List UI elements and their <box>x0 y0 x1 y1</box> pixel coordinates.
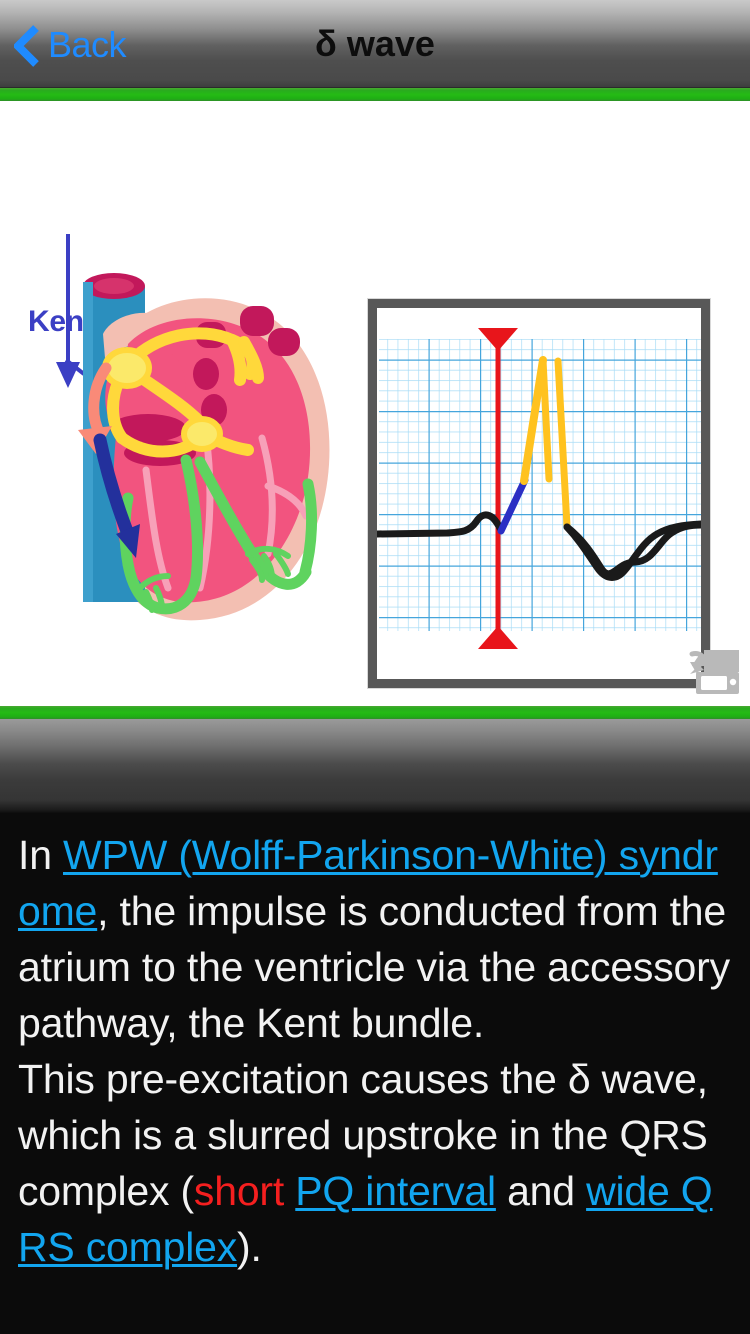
save-floppy-icon[interactable] <box>688 648 742 698</box>
highlight-short: short <box>194 1168 284 1214</box>
gradient-band <box>0 719 750 813</box>
av-node <box>184 419 220 449</box>
link-pq-interval[interactable]: PQ interval <box>295 1168 496 1214</box>
back-button-label: Back <box>48 27 126 63</box>
kent-pointer-arrow <box>56 234 84 388</box>
paragraph-2: This pre-excitation causes the δ wave, w… <box>18 1051 732 1275</box>
heart-conduction-diagram <box>0 216 360 676</box>
paragraph-1: In WPW (Wolff-Parkinson-White) syndrome,… <box>18 827 732 1051</box>
navigation-bar: Back δ wave <box>0 0 750 88</box>
back-button[interactable]: Back <box>14 16 132 74</box>
chevron-left-icon <box>14 25 40 65</box>
p1-prefix: In <box>18 832 63 878</box>
ecg-delta-wave-strip <box>368 299 710 688</box>
sa-node <box>105 350 149 386</box>
article-screen: Back δ wave Kent bundle <box>0 0 750 1334</box>
p2-space-1 <box>284 1168 295 1214</box>
figure-panel[interactable]: Kent bundle <box>0 101 750 706</box>
p2-mid-2: and <box>496 1168 586 1214</box>
green-divider-top <box>0 88 750 101</box>
p2-suffix: ). <box>237 1224 262 1270</box>
article-text-panel: In WPW (Wolff-Parkinson-White) syndrome,… <box>0 813 750 1334</box>
p1-middle: , the impulse is conducted from the atri… <box>18 888 730 1046</box>
green-divider-middle <box>0 706 750 719</box>
